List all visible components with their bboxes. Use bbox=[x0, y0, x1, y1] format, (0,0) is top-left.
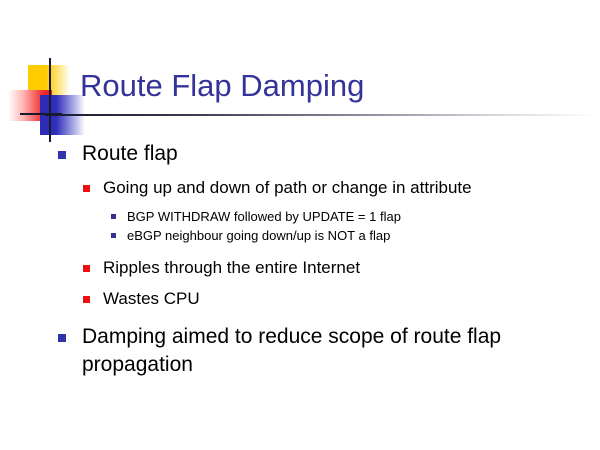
square-bullet-icon bbox=[111, 214, 116, 219]
bullet-item-level3: BGP WITHDRAW followed by UPDATE = 1 flap bbox=[0, 207, 600, 226]
bullet-text: Route flap bbox=[82, 140, 178, 168]
square-bullet-icon bbox=[83, 296, 90, 303]
bullet-item-level3: eBGP neighbour going down/up is NOT a fl… bbox=[0, 226, 600, 245]
bullet-text: BGP WITHDRAW followed by UPDATE = 1 flap bbox=[127, 207, 401, 226]
ornament-vertical-line bbox=[49, 58, 51, 142]
title-divider bbox=[45, 114, 598, 116]
square-bullet-icon bbox=[83, 185, 90, 192]
bullet-item-level2: Going up and down of path or change in a… bbox=[0, 176, 600, 200]
slide-body: Route flap Going up and down of path or … bbox=[0, 140, 600, 381]
square-bullet-icon bbox=[83, 265, 90, 272]
bullet-text: Going up and down of path or change in a… bbox=[103, 176, 472, 200]
bullet-item-level2: Wastes CPU bbox=[0, 287, 600, 311]
bullet-item-level1: Damping aimed to reduce scope of route f… bbox=[0, 323, 600, 379]
bullet-text: Ripples through the entire Internet bbox=[103, 256, 360, 280]
slide: Route Flap Damping Route flap Going up a… bbox=[0, 0, 600, 450]
bullet-text: Wastes CPU bbox=[103, 287, 200, 311]
bullet-item-level2: Ripples through the entire Internet bbox=[0, 256, 600, 280]
bullet-text: Damping aimed to reduce scope of route f… bbox=[82, 323, 562, 379]
square-bullet-icon bbox=[58, 151, 66, 159]
slide-title: Route Flap Damping bbox=[80, 68, 364, 104]
square-bullet-icon bbox=[58, 334, 66, 342]
bullet-text: eBGP neighbour going down/up is NOT a fl… bbox=[127, 226, 390, 245]
bullet-item-level1: Route flap bbox=[0, 140, 600, 168]
square-bullet-icon bbox=[111, 233, 116, 238]
